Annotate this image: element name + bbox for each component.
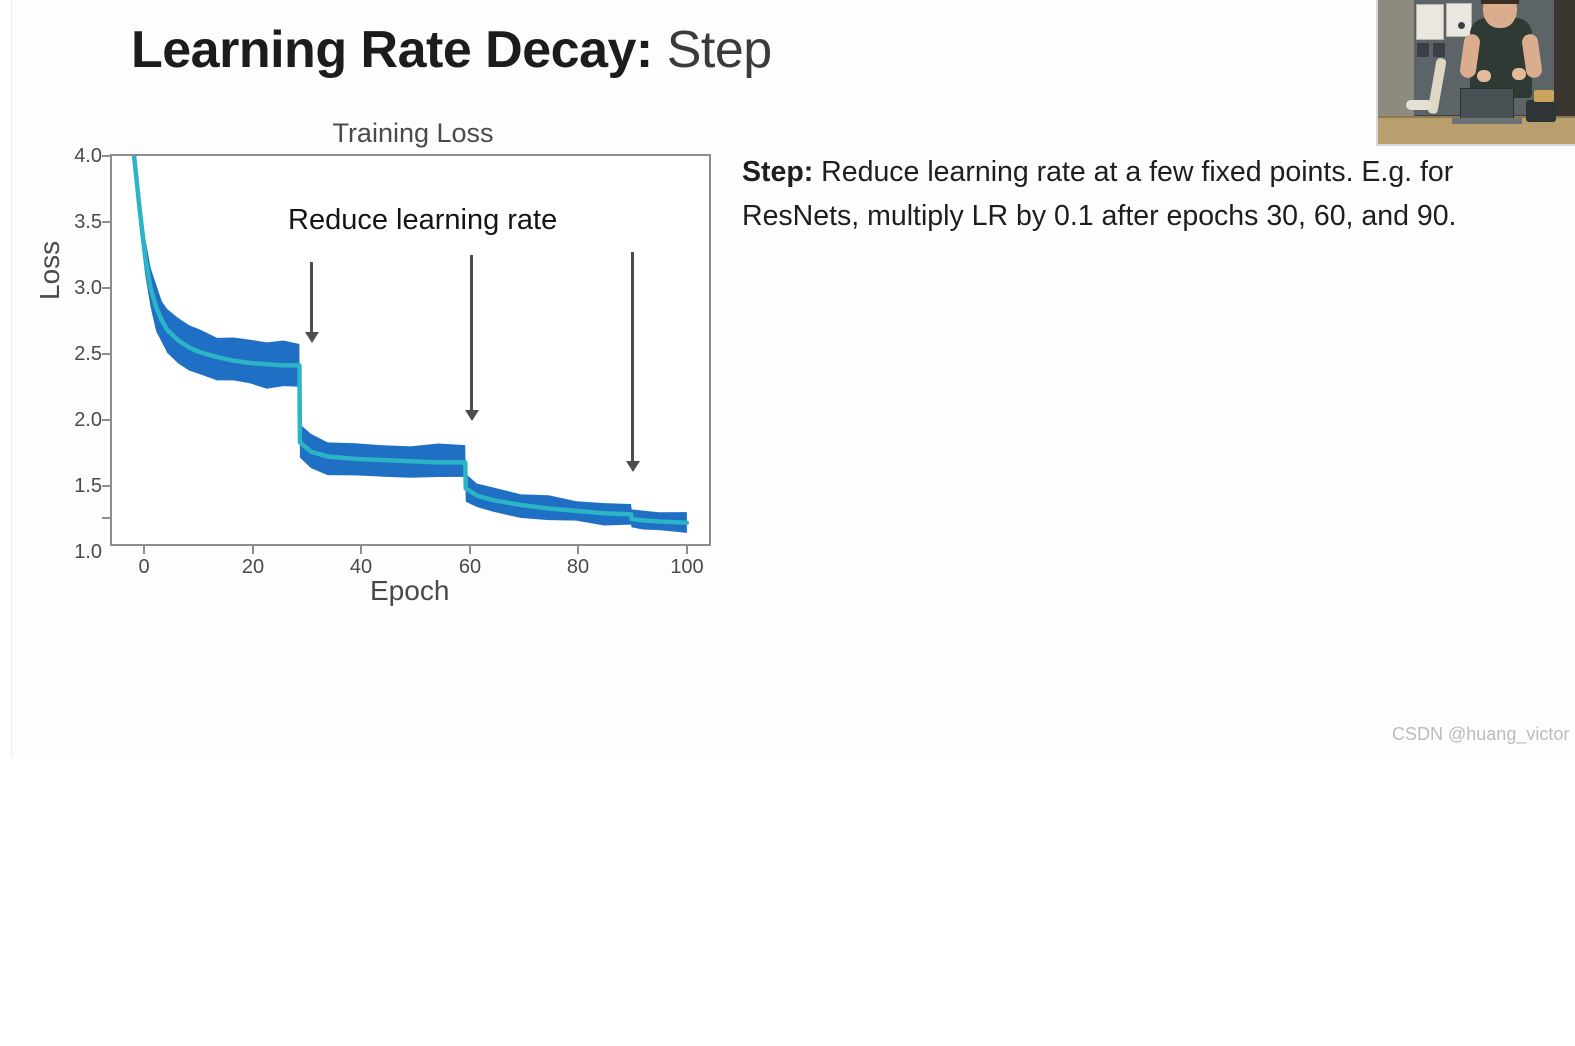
loss-ytick-2.0: 2.0 — [56, 409, 102, 432]
loss-xtick-40: 40 — [334, 556, 388, 579]
slide-canvas: Learning Rate Decay: Step Step: Reduce l… — [0, 0, 1575, 758]
training-loss-x-axis-label: Epoch — [370, 575, 449, 607]
video-panel-1 — [1417, 43, 1429, 57]
video-poster-2 — [1446, 3, 1472, 37]
presenter-torso — [1470, 18, 1532, 98]
loss-xtick-60: 60 — [443, 556, 497, 579]
video-wall-dot — [1458, 22, 1465, 29]
presenter-hair — [1481, 0, 1519, 4]
video-desk-object-gold — [1534, 90, 1554, 102]
loss-xtick-mark-20 — [252, 546, 254, 554]
loss-ytick-3.0: 3.0 — [56, 277, 102, 300]
loss-ytick-mark-1.0 — [102, 517, 110, 519]
loss-xtick-20: 20 — [226, 556, 280, 579]
loss-xtick-0: 0 — [117, 556, 171, 579]
loss-ytick-mark-3.5 — [102, 221, 110, 223]
loss-xtick-mark-100 — [686, 546, 688, 554]
presenter-left-hand — [1477, 70, 1491, 82]
learning-rate-chart: Learning Rate Epoch 0.10 0.08 0.06 0.04 … — [800, 295, 1500, 755]
arrow-down-icon-epoch-90 — [631, 252, 634, 463]
body-rest: Reduce learning rate at a few fixed poin… — [742, 156, 1456, 232]
video-laptop-base — [1452, 118, 1522, 124]
training-loss-title: Training Loss — [303, 118, 523, 149]
video-wall-right — [1554, 0, 1575, 118]
video-desk-object-dark — [1526, 100, 1556, 122]
body-paragraph: Step: Reduce learning rate at a few fixe… — [742, 150, 1532, 239]
loss-xtick-mark-60 — [469, 546, 471, 554]
reduce-lr-annotation: Reduce learning rate — [288, 204, 557, 237]
video-desk-object-light — [1406, 100, 1432, 110]
loss-ytick-mark-3.0 — [102, 287, 110, 289]
loss-ytick-1.0: 1.0 — [56, 541, 102, 564]
video-laptop-screen — [1460, 88, 1514, 122]
loss-xtick-mark-80 — [577, 546, 579, 554]
loss-ytick-2.5: 2.5 — [56, 343, 102, 366]
loss-ytick-mark-4.0 — [102, 155, 110, 157]
video-poster-1 — [1416, 4, 1444, 40]
loss-ytick-mark-1.5 — [102, 485, 110, 487]
video-panel-2 — [1433, 43, 1445, 57]
lecture-video-overlay[interactable] — [1376, 0, 1575, 146]
arrow-down-icon-epoch-60 — [470, 255, 473, 412]
arrow-down-icon-epoch-30 — [310, 262, 313, 334]
loss-ytick-mark-2.0 — [102, 419, 110, 421]
loss-ytick-4.0: 4.0 — [56, 145, 102, 168]
loss-xtick-80: 80 — [551, 556, 605, 579]
presenter-right-hand — [1512, 68, 1526, 80]
loss-ytick-1.5: 1.5 — [56, 475, 102, 498]
loss-ytick-mark-2.5 — [102, 353, 110, 355]
loss-xtick-mark-0 — [143, 546, 145, 554]
loss-xtick-100: 100 — [660, 556, 714, 579]
loss-ytick-3.5: 3.5 — [56, 211, 102, 234]
watermark: CSDN @huang_victor — [1392, 724, 1569, 745]
training-loss-chart: Training Loss Loss Epoch 4.0 3.5 3.0 2.5… — [0, 0, 760, 640]
loss-xtick-mark-40 — [360, 546, 362, 554]
